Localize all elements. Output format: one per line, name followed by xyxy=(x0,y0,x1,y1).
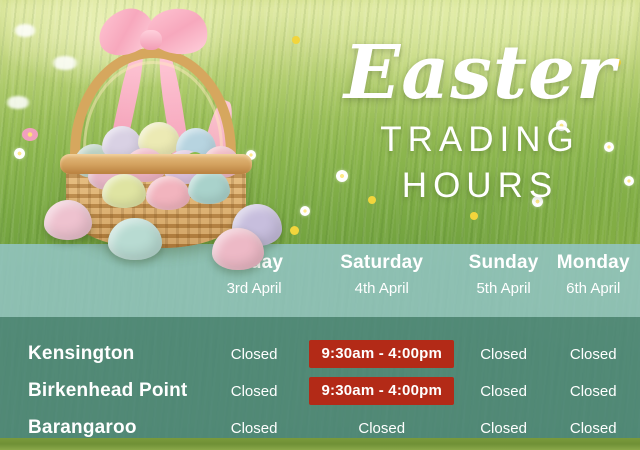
footer-grass-strip xyxy=(0,438,640,450)
poster-title: Easter TRADING HOURS xyxy=(330,38,630,206)
column-header-monday: Monday 6th April xyxy=(546,252,640,297)
daisy-icon xyxy=(6,96,30,109)
hours-cell: Closed xyxy=(570,383,617,400)
title-hours: HOURS xyxy=(330,166,630,206)
hours-cell: Closed xyxy=(231,383,278,400)
easter-egg xyxy=(146,176,190,210)
location-name: Barangaroo xyxy=(0,417,205,439)
column-header-sunday: Sunday 5th April xyxy=(461,252,547,297)
hours-cell: Closed xyxy=(480,420,527,437)
easter-egg xyxy=(108,218,162,260)
header-date: 6th April xyxy=(546,280,640,297)
hours-open-badge: 9:30am - 4:00pm xyxy=(309,340,454,368)
easter-egg xyxy=(188,170,230,204)
table-row: Birkenhead Point Closed 9:30am - 4:00pm … xyxy=(0,375,640,407)
location-name: Kensington xyxy=(0,343,205,365)
title-trading: TRADING xyxy=(330,120,630,160)
easter-trading-hours-poster: Easter TRADING HOURS Friday 3rd April Sa… xyxy=(0,0,640,450)
daisy-icon xyxy=(14,148,25,159)
bow-knot xyxy=(140,30,162,50)
header-day: Saturday xyxy=(303,252,461,274)
hours-cell: Closed xyxy=(231,346,278,363)
hours-cell: Closed xyxy=(480,346,527,363)
basket-rim xyxy=(60,154,252,174)
buttercup-icon xyxy=(470,212,478,220)
column-header-saturday: Saturday 4th April xyxy=(303,252,461,297)
title-easter: Easter xyxy=(330,38,630,108)
header-date: 4th April xyxy=(303,280,461,297)
header-date: 5th April xyxy=(461,280,547,297)
header-day: Sunday xyxy=(461,252,547,274)
table-header-row: Friday 3rd April Saturday 4th April Sund… xyxy=(0,252,640,310)
header-date: 3rd April xyxy=(205,280,302,297)
table-row: Kensington Closed 9:30am - 4:00pm Closed… xyxy=(0,338,640,370)
header-day: Monday xyxy=(546,252,640,274)
trading-hours-table: Friday 3rd April Saturday 4th April Sund… xyxy=(0,244,640,438)
hours-cell: Closed xyxy=(358,420,405,437)
easter-egg xyxy=(102,174,146,208)
hours-cell: Closed xyxy=(570,346,617,363)
location-name: Birkenhead Point xyxy=(0,380,205,402)
easter-basket-artwork xyxy=(36,4,326,248)
hours-cell: Closed xyxy=(231,420,278,437)
easter-egg xyxy=(212,228,264,270)
easter-egg xyxy=(44,200,92,240)
daisy-icon xyxy=(14,24,36,37)
hours-cell: Closed xyxy=(480,383,527,400)
hours-cell: Closed xyxy=(570,420,617,437)
hours-open-badge: 9:30am - 4:00pm xyxy=(309,377,454,405)
